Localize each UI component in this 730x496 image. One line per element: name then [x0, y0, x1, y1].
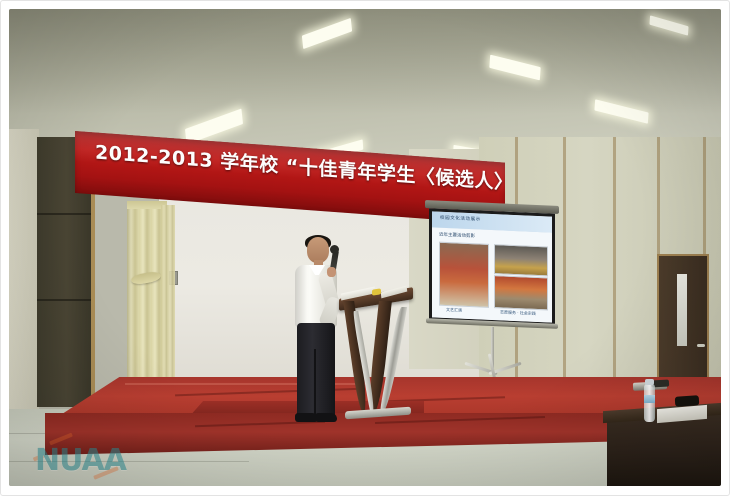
speaker-shoe — [315, 413, 337, 422]
projection-screen-assembly: 校园文化活动展示 近年主要活动剪影 文艺汇演 志愿服务 · 社会实践 — [429, 206, 555, 334]
judges-table — [607, 413, 721, 486]
water-bottle-cap — [645, 379, 654, 385]
speaker-person — [291, 237, 343, 423]
slide-body: 近年主要活动剪影 文艺汇演 志愿服务 · 社会实践 — [432, 227, 552, 322]
speaker-trousers — [297, 323, 335, 417]
curtain-tieback — [130, 270, 161, 285]
speaker-shirt-shadow — [295, 265, 307, 327]
projection-screen: 校园文化活动展示 近年主要活动剪影 文艺汇演 志愿服务 · 社会实践 — [429, 208, 555, 326]
water-bottle-label — [644, 395, 655, 403]
stage-curtain-secondary — [161, 205, 175, 391]
door-handle[interactable] — [697, 344, 705, 347]
door[interactable] — [657, 254, 709, 397]
speaker-hand — [327, 267, 336, 277]
slide-caption-right: 志愿服务 · 社会实践 — [500, 309, 536, 317]
watermark-text: NUAA — [35, 443, 126, 478]
slide-header-text: 校园文化活动展示 — [440, 215, 481, 223]
slide-subtitle: 近年主要活动剪影 — [439, 232, 475, 240]
speaker-leg-split — [314, 349, 316, 417]
wall-far-left — [9, 129, 39, 419]
slide-caption-left: 文艺汇演 — [446, 307, 462, 314]
table-object — [675, 395, 700, 407]
watermark: NUAA — [27, 437, 143, 481]
slide-photo — [439, 242, 489, 308]
slide-photo — [494, 244, 548, 276]
slide-photo — [494, 275, 548, 310]
podium-base — [345, 407, 411, 420]
photo-frame: 2012-2013 学年校 “十佳青年学生〈候选人〉” 答辩评审会 校园文化活动… — [0, 0, 730, 496]
water-bottle — [644, 384, 655, 422]
podium — [339, 293, 415, 423]
door-vision-panel — [677, 274, 687, 346]
photograph-scene: 2012-2013 学年校 “十佳青年学生〈候选人〉” 答辩评审会 校园文化活动… — [9, 9, 721, 486]
microphone-head-icon — [330, 245, 339, 254]
